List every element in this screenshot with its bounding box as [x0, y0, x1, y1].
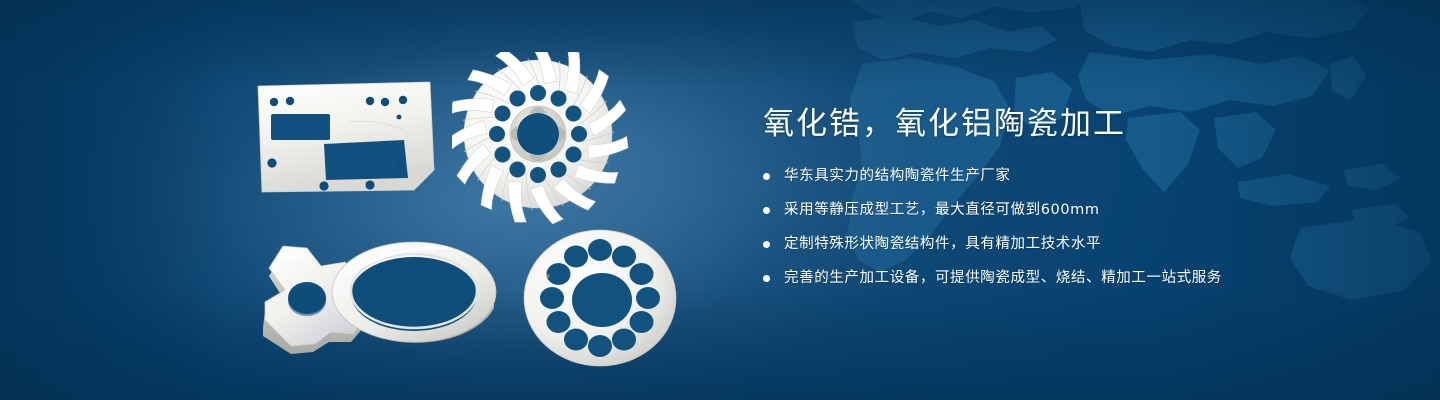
bullet-dot-icon — [763, 207, 770, 214]
feature-text: 采用等静压成型工艺，最大直径可做到600mm — [784, 200, 1100, 221]
product-photo-cluster — [0, 0, 740, 400]
bullet-dot-icon — [763, 173, 770, 180]
list-item: 完善的生产加工设备，可提供陶瓷成型、烧结、精加工一站式服务 — [763, 268, 1383, 289]
bullet-dot-icon — [763, 241, 770, 248]
list-item: 华东具实力的结构陶瓷件生产厂家 — [763, 166, 1383, 187]
feature-text: 定制特殊形状陶瓷结构件，具有精加工技术水平 — [784, 234, 1101, 255]
bullet-dot-icon — [763, 275, 770, 282]
ceramic-flat-plate — [252, 78, 437, 198]
ceramic-ring — [328, 236, 500, 358]
page-title: 氧化锆，氧化铝陶瓷加工 — [763, 104, 1383, 144]
feature-text: 华东具实力的结构陶瓷件生产厂家 — [784, 166, 1011, 187]
list-item: 采用等静压成型工艺，最大直径可做到600mm — [763, 200, 1383, 221]
feature-text: 完善的生产加工设备，可提供陶瓷成型、烧结、精加工一站式服务 — [784, 268, 1222, 289]
list-item: 定制特殊形状陶瓷结构件，具有精加工技术水平 — [763, 234, 1383, 255]
ceramic-impeller-rotor — [452, 52, 632, 224]
feature-list: 华东具实力的结构陶瓷件生产厂家 采用等静压成型工艺，最大直径可做到600mm 定… — [763, 166, 1383, 289]
ceramic-perforated-disc — [520, 228, 680, 368]
banner-text-column: 氧化锆，氧化铝陶瓷加工 华东具实力的结构陶瓷件生产厂家 采用等静压成型工艺，最大… — [763, 104, 1383, 289]
promo-banner: 氧化锆，氧化铝陶瓷加工 华东具实力的结构陶瓷件生产厂家 采用等静压成型工艺，最大… — [0, 0, 1440, 400]
